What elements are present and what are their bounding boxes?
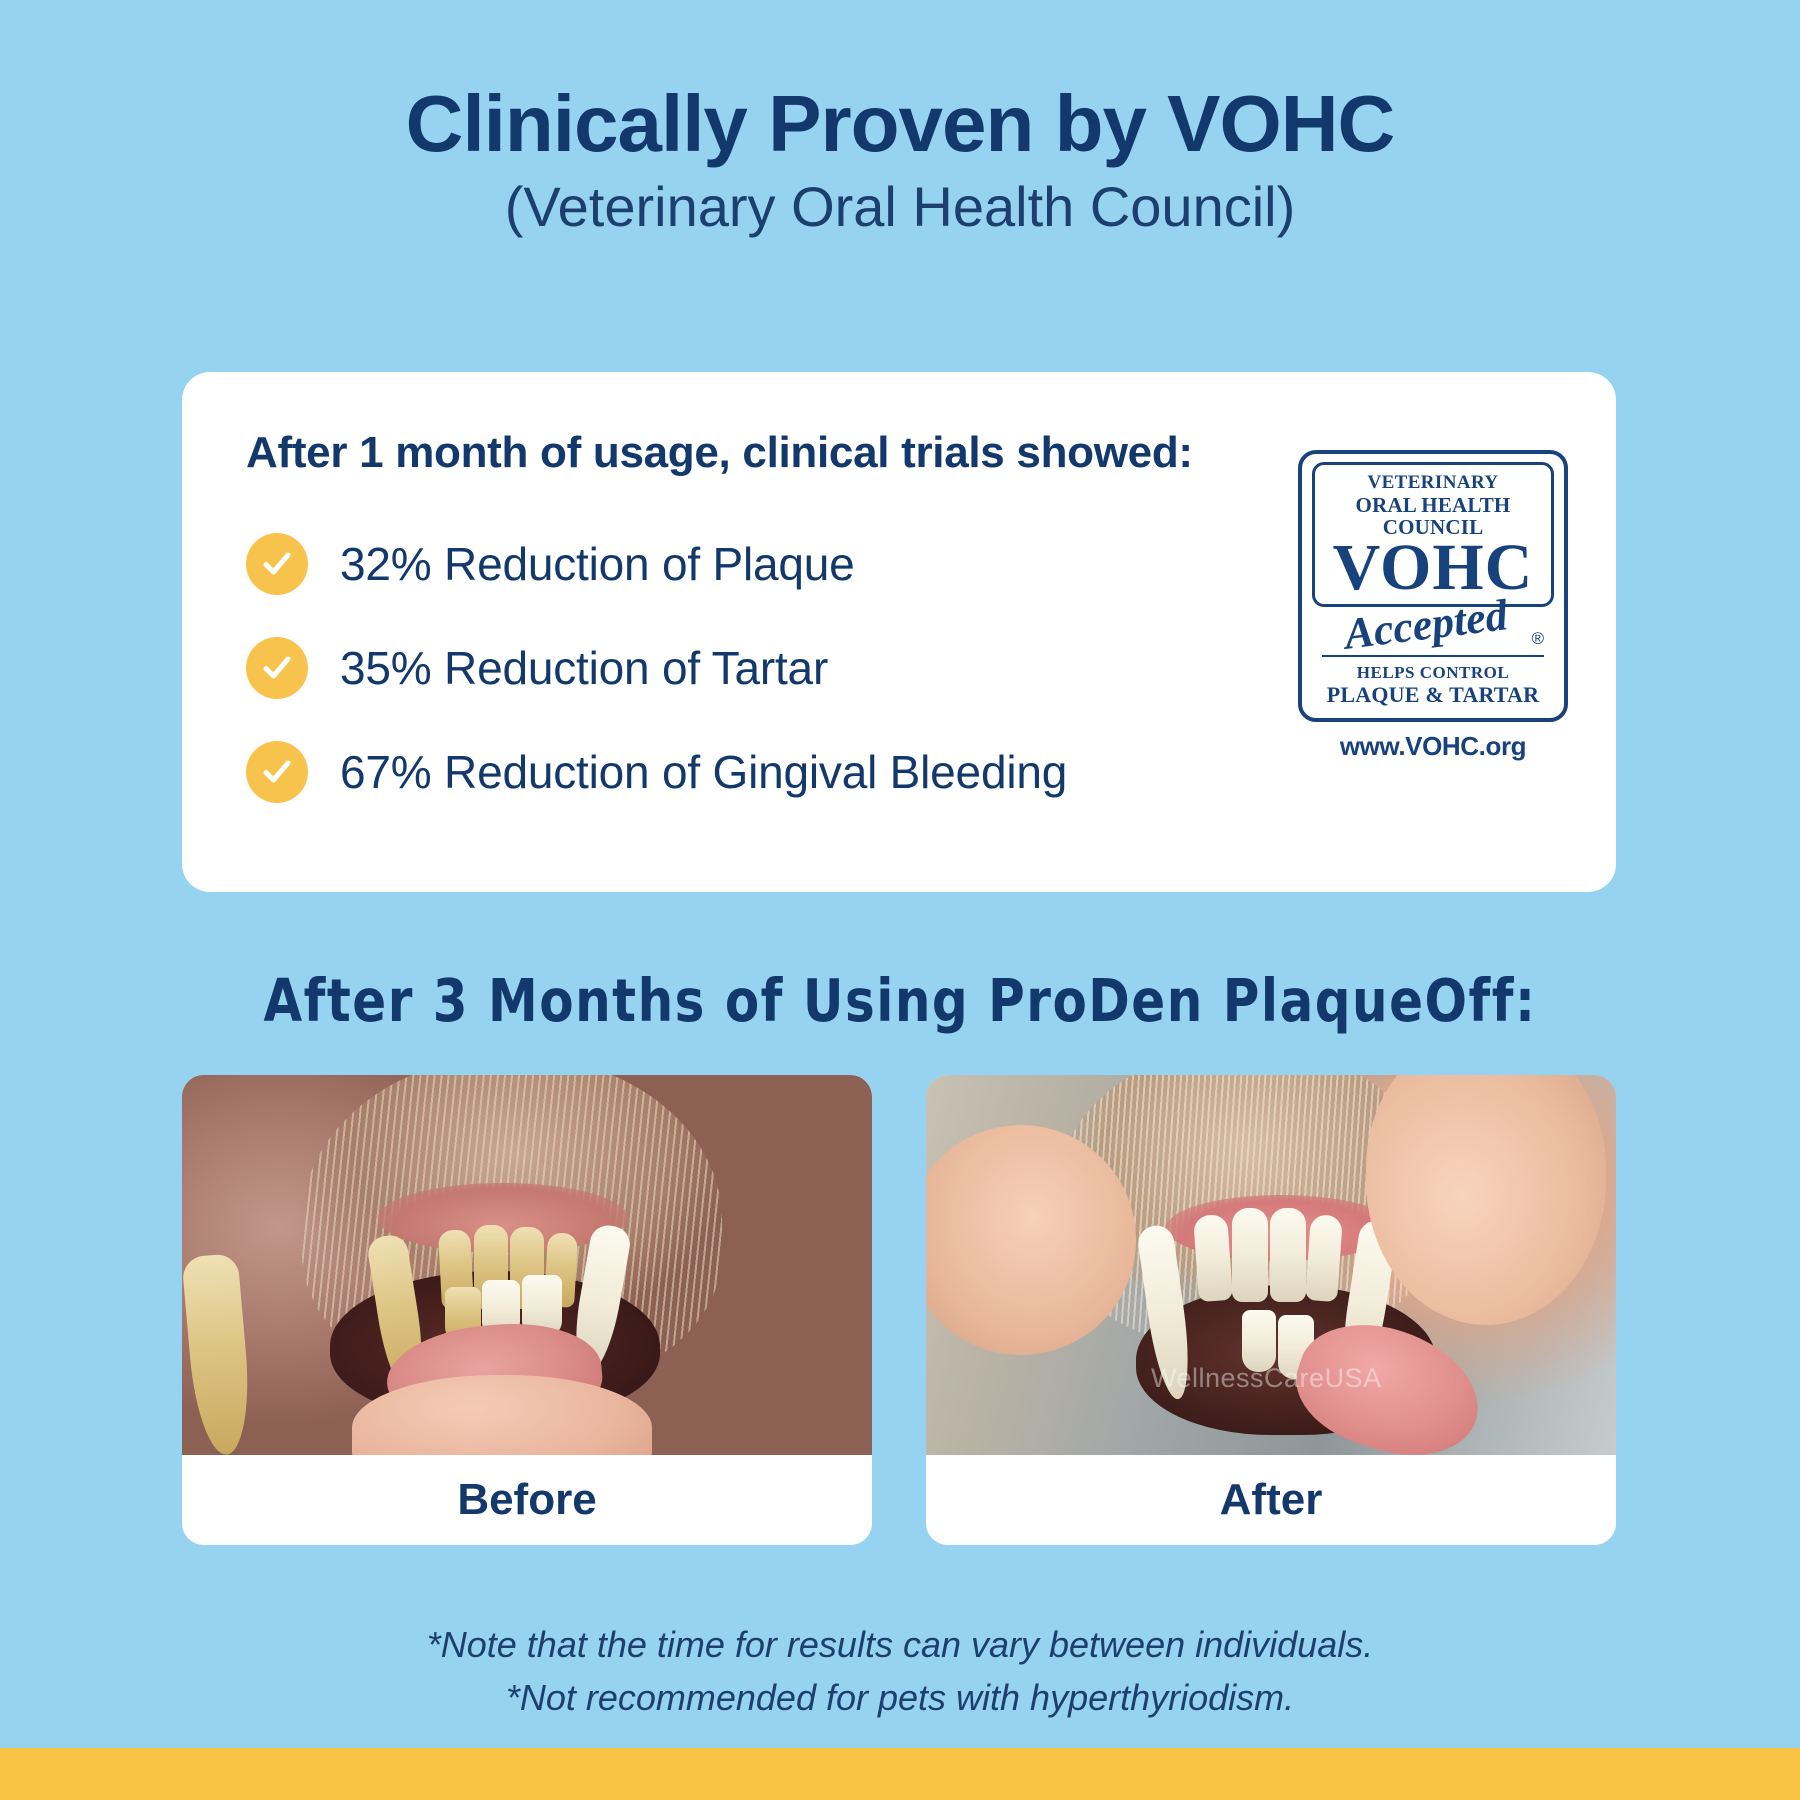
check-circle-icon — [246, 533, 308, 595]
vohc-accepted-row: Accepted ® — [1308, 601, 1558, 653]
vohc-accepted-seal: VETERINARY ORAL HEALTH COUNCIL VOHC Acce… — [1298, 450, 1568, 762]
after-photo: WellnessCareUSA — [926, 1075, 1616, 1455]
after-photo-card: WellnessCareUSA After — [926, 1075, 1616, 1545]
before-photo-card: Before — [182, 1075, 872, 1545]
check-circle-icon — [246, 741, 308, 803]
footnotes: *Note that the time for results can vary… — [0, 1618, 1800, 1725]
vohc-line-veterinary: VETERINARY — [1319, 473, 1547, 494]
page-header: Clinically Proven by VOHC (Veterinary Or… — [0, 0, 1800, 238]
vohc-seal-outer-border: VETERINARY ORAL HEALTH COUNCIL VOHC Acce… — [1298, 450, 1568, 722]
page-subtitle: (Veterinary Oral Health Council) — [0, 176, 1800, 238]
before-caption: Before — [182, 1455, 872, 1545]
after-caption: After — [926, 1455, 1616, 1545]
bottom-accent-bar — [0, 1748, 1800, 1800]
vohc-helps-control: HELPS CONTROL — [1308, 663, 1558, 683]
after-tooth — [1193, 1214, 1233, 1302]
stats-item-label: 35% Reduction of Tartar — [340, 641, 828, 695]
footnote-hyperthyroidism: *Not recommended for pets with hyperthyr… — [0, 1671, 1800, 1724]
check-circle-icon — [246, 637, 308, 699]
registered-trademark-icon: ® — [1531, 629, 1544, 649]
page-title: Clinically Proven by VOHC — [0, 82, 1800, 166]
vohc-website-url: www.VOHC.org — [1298, 731, 1568, 762]
footnote-results-vary: *Note that the time for results can vary… — [0, 1618, 1800, 1671]
after-tooth — [1270, 1208, 1306, 1302]
before-after-comparison: Before WellnessCareUSA After — [182, 1075, 1616, 1545]
comparison-title: After 3 Months of Using ProDen PlaqueOff… — [0, 967, 1800, 1035]
vohc-seal-inner-border: VETERINARY ORAL HEALTH COUNCIL VOHC — [1312, 462, 1554, 607]
vohc-wordmark: VOHC — [1319, 536, 1547, 601]
after-tooth — [1232, 1208, 1268, 1302]
before-photo — [182, 1075, 872, 1455]
stats-item-label: 67% Reduction of Gingival Bleeding — [340, 745, 1067, 799]
clinical-results-card: After 1 month of usage, clinical trials … — [182, 372, 1616, 892]
after-lower-tooth — [1242, 1310, 1276, 1372]
stats-item-label: 32% Reduction of Plaque — [340, 537, 855, 591]
vohc-plaque-tartar: PLAQUE & TARTAR — [1308, 683, 1558, 710]
after-tooth — [1305, 1214, 1343, 1302]
